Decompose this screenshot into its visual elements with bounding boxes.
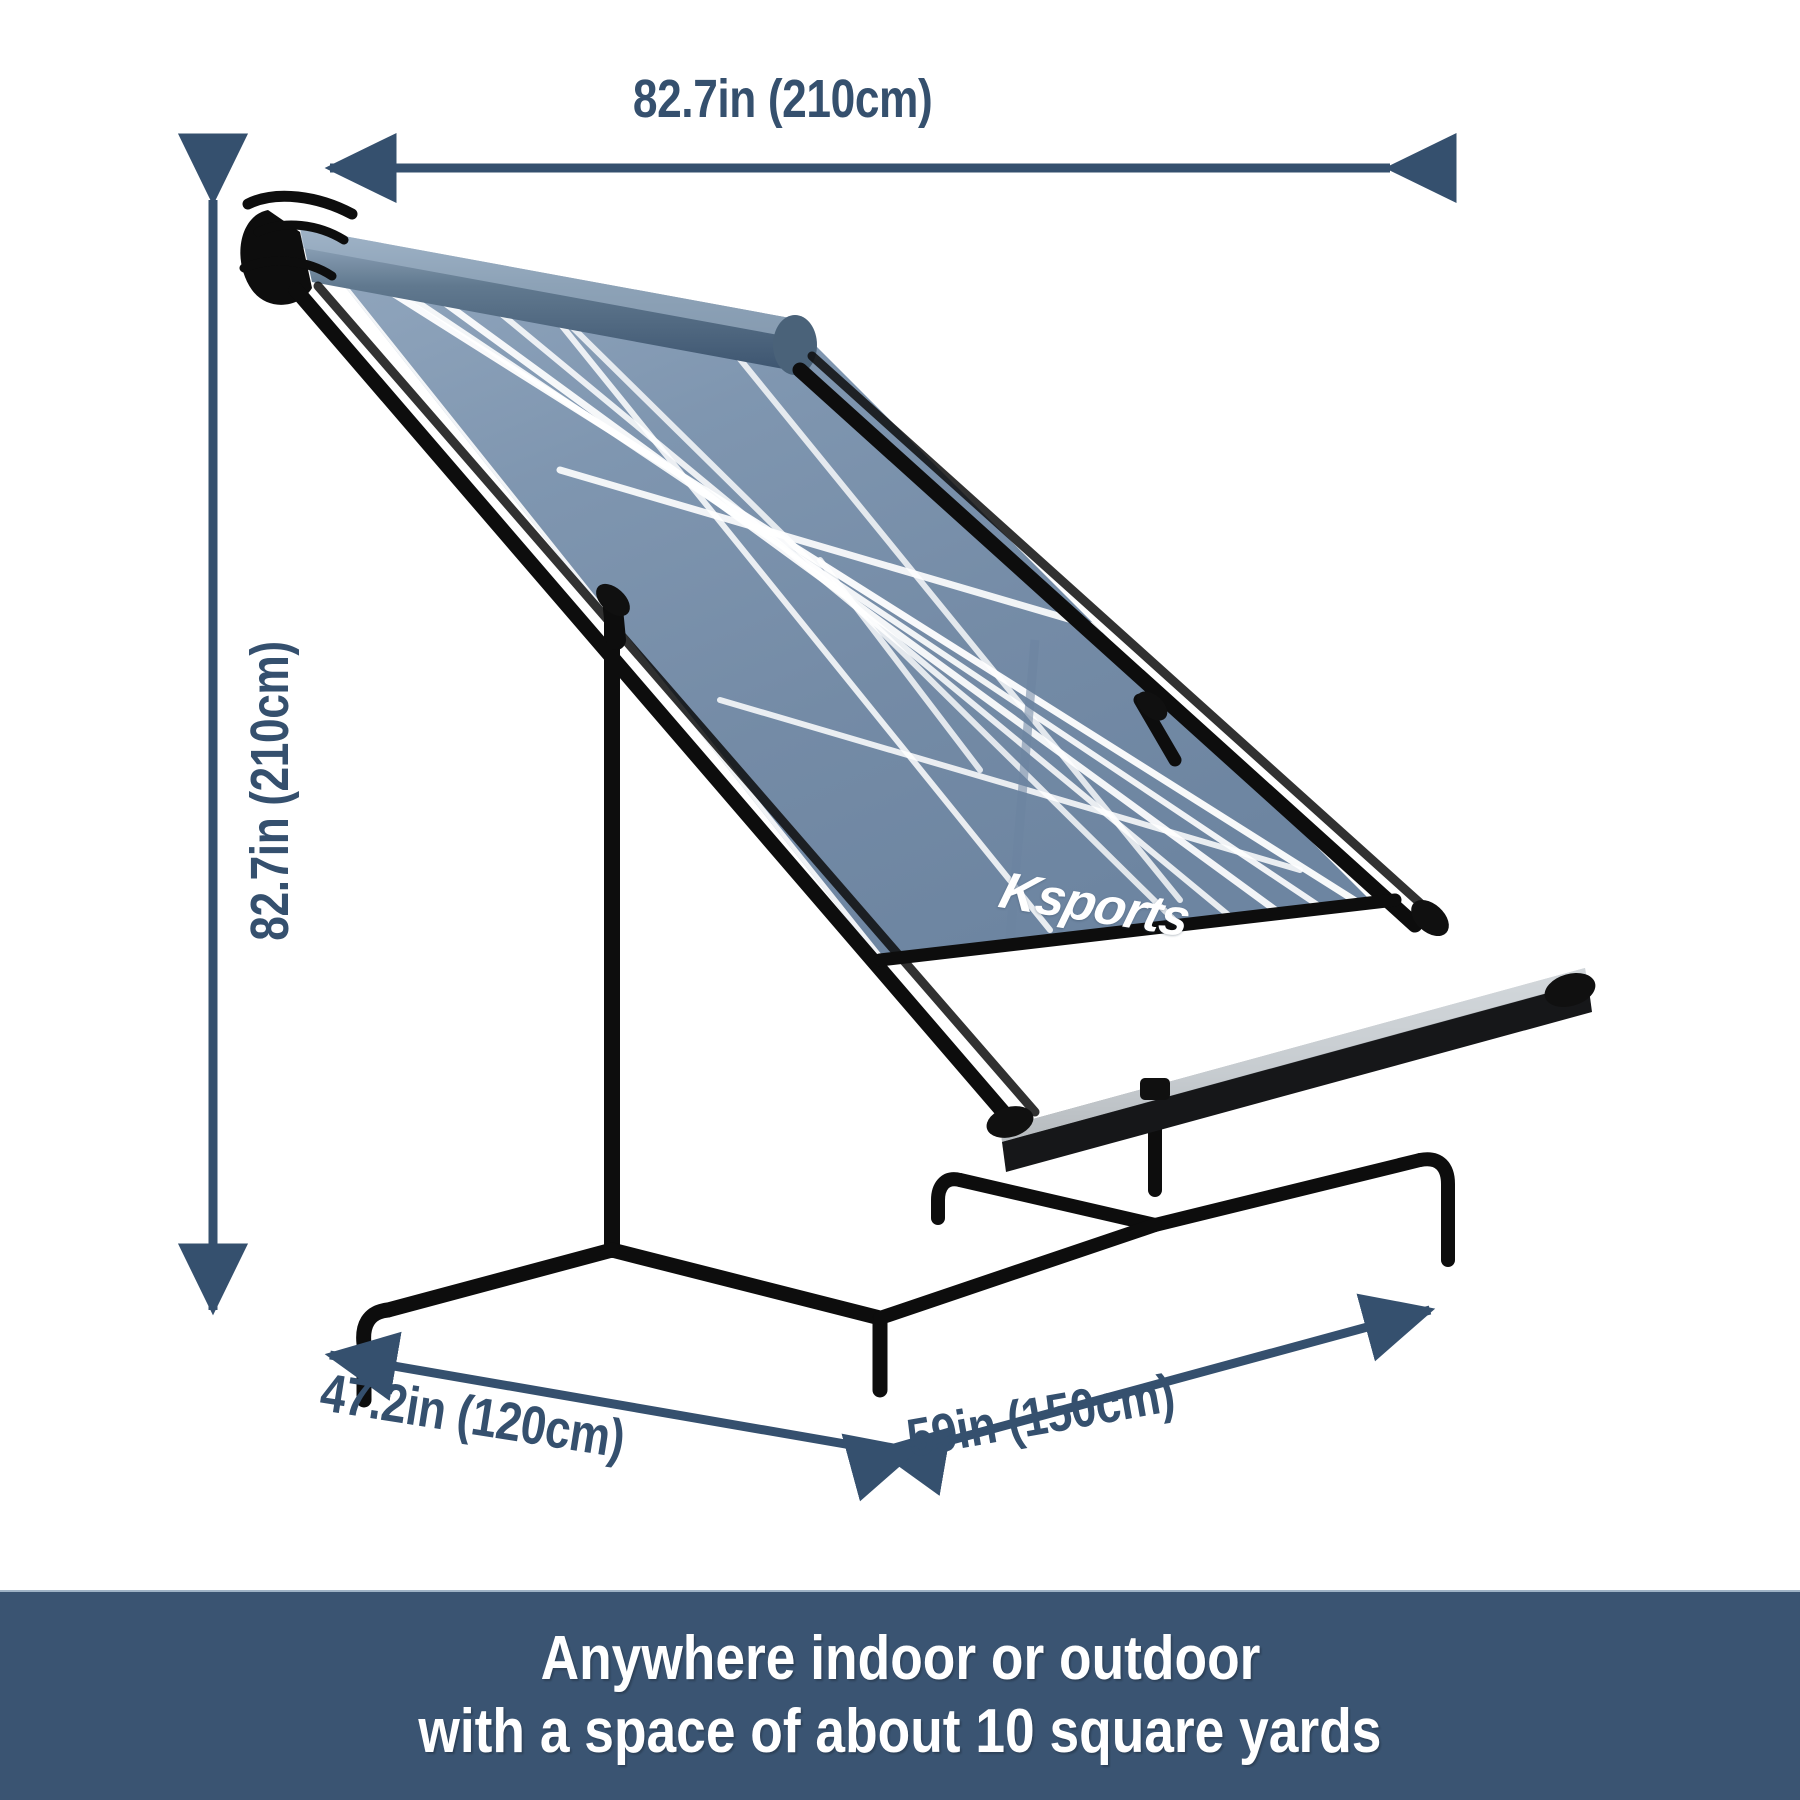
caption-line-1: Anywhere indoor or outdoor [540, 1622, 1260, 1695]
caption-banner: Anywhere indoor or outdoor with a space … [0, 1590, 1800, 1800]
caption-line-2: with a space of about 10 square yards [418, 1695, 1381, 1768]
product-dimension-diagram: Ksports 82.7in (210cm) 82.7in (210cm) 47… [0, 0, 1800, 1800]
dimension-label-width-top: 82.7in (210cm) [633, 68, 932, 130]
dimension-label-height-left: 82.7in (210cm) [239, 561, 301, 1020]
